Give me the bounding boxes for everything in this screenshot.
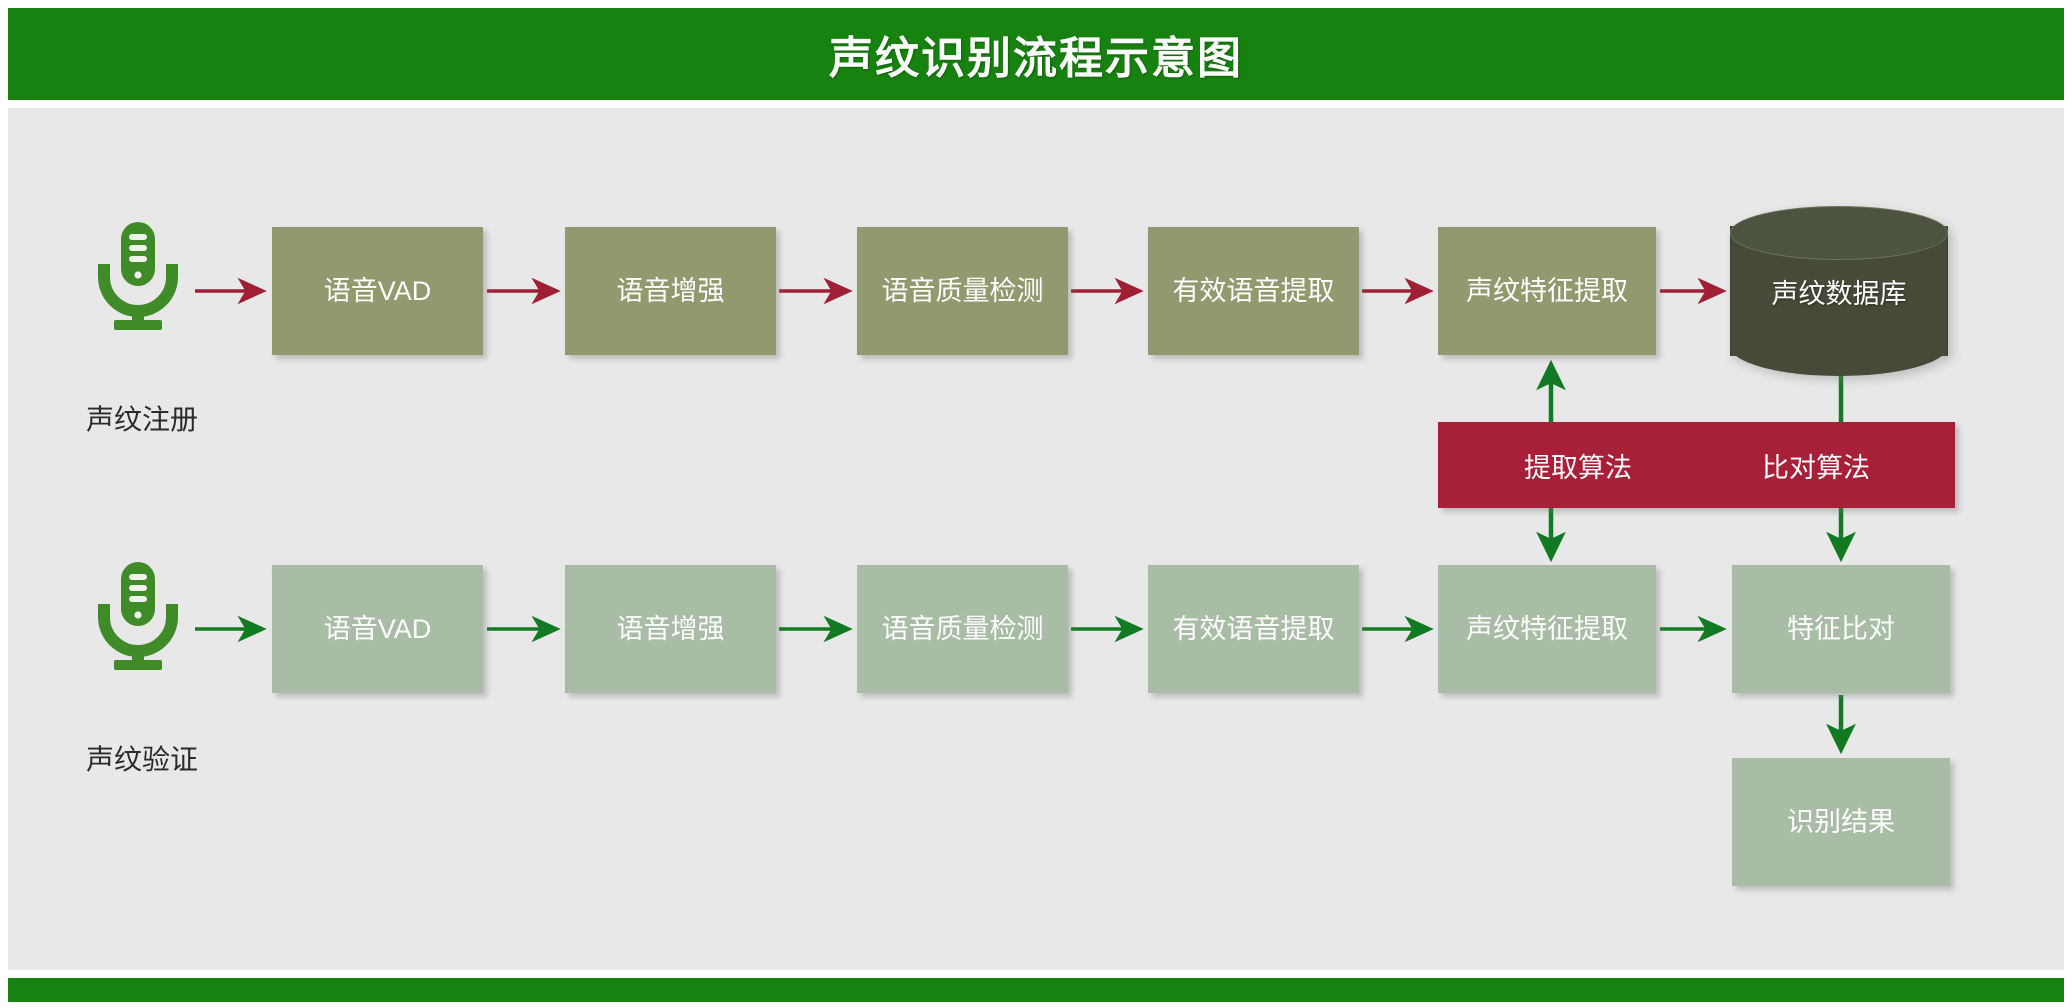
node-enroll-vad[interactable]: 语音VAD <box>272 227 483 355</box>
node-enroll-feature-extract[interactable]: 声纹特征提取 <box>1438 227 1656 355</box>
voiceprint-database-cylinder[interactable]: 声纹数据库 <box>1730 206 1948 376</box>
node-enroll-valid-speech[interactable]: 有效语音提取 <box>1148 227 1359 355</box>
footer-banner <box>8 978 2064 1002</box>
microphone-icon-enroll <box>88 220 188 337</box>
node-verify-valid-speech[interactable]: 有效语音提取 <box>1148 565 1359 693</box>
node-verify-result[interactable]: 识别结果 <box>1732 758 1950 886</box>
node-verify-feature-extract[interactable]: 声纹特征提取 <box>1438 565 1656 693</box>
node-enroll-enhance[interactable]: 语音增强 <box>565 227 776 355</box>
node-verify-enhance[interactable]: 语音增强 <box>565 565 776 693</box>
header-banner: 声纹识别流程示意图 <box>8 8 2064 100</box>
database-label: 声纹数据库 <box>1730 206 1948 376</box>
microphone-icon-verify <box>88 560 188 677</box>
algorithm-label-compare[interactable]: 比对算法 <box>1706 422 1926 508</box>
row-label-enroll: 声纹注册 <box>86 398 198 438</box>
node-verify-vad[interactable]: 语音VAD <box>272 565 483 693</box>
algorithm-label-extract[interactable]: 提取算法 <box>1468 422 1688 508</box>
algorithm-band: 提取算法 比对算法 <box>1438 422 1955 508</box>
page-title: 声纹识别流程示意图 <box>829 22 1243 86</box>
node-verify-quality[interactable]: 语音质量检测 <box>857 565 1068 693</box>
node-verify-feature-match[interactable]: 特征比对 <box>1732 565 1950 693</box>
node-enroll-quality[interactable]: 语音质量检测 <box>857 227 1068 355</box>
diagram-page: 声纹识别流程示意图 <box>0 0 2072 1008</box>
row-label-verify: 声纹验证 <box>86 738 198 778</box>
